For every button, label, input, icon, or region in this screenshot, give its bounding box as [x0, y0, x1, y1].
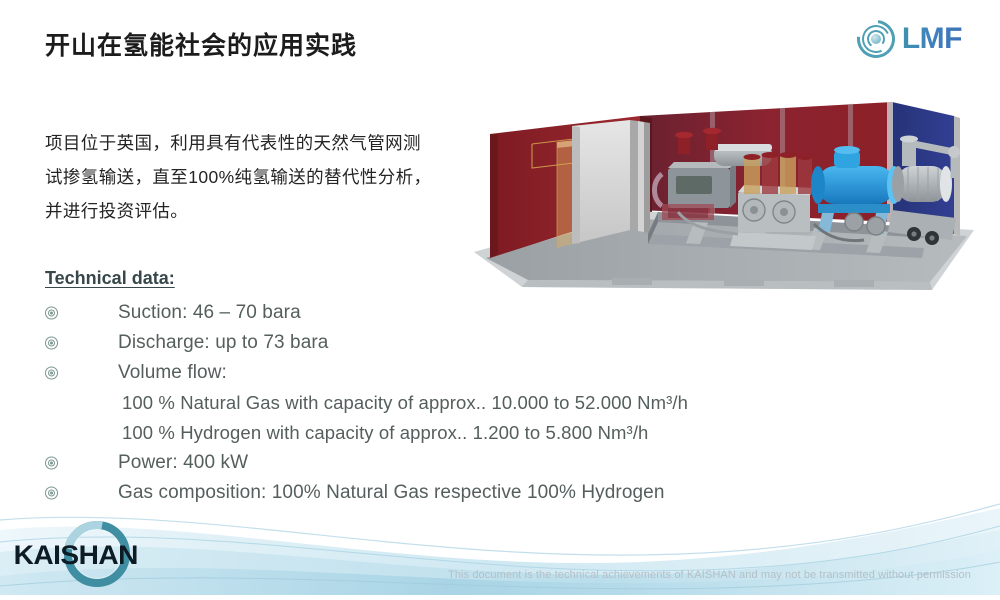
- lmf-concentric-rings-icon: [857, 20, 895, 58]
- concentric-circle-bullet-icon: [45, 337, 58, 350]
- lmf-wordmark: LMF: [902, 22, 962, 56]
- list-item: Discharge: up to 73 bara: [45, 328, 965, 358]
- intro-line-1: 项目位于英国，利用具有代表性的天然气管网测: [45, 126, 465, 160]
- technical-data-heading: Technical data:: [45, 268, 175, 289]
- technical-data-list: Suction: 46 – 70 bara Discharge: up to 7…: [45, 298, 965, 508]
- footer-confidentiality-note: This document is the technical achieveme…: [448, 569, 971, 581]
- kaishan-wordmark: KAISHAN: [14, 540, 138, 571]
- intro-paragraph: 项目位于英国，利用具有代表性的天然气管网测 试掺氢输送，直至100%纯氢输送的替…: [45, 126, 465, 228]
- containerized-compressor-3d-render: [462, 82, 987, 307]
- list-item-sub: 100 % Natural Gas with capacity of appro…: [45, 388, 965, 418]
- kaishan-logo: KAISHAN: [12, 513, 152, 593]
- list-item: Volume flow:: [45, 358, 965, 388]
- list-item: Power: 400 kW: [45, 448, 965, 478]
- list-item-label: 100 % Natural Gas with capacity of appro…: [122, 392, 688, 414]
- concentric-circle-bullet-icon: [45, 367, 58, 380]
- list-item-label: Power: 400 kW: [118, 452, 248, 474]
- concentric-circle-bullet-icon: [45, 457, 58, 470]
- list-item-label: Discharge: up to 73 bara: [118, 332, 328, 354]
- lmf-logo: LMF: [857, 20, 962, 58]
- list-item-label: Suction: 46 – 70 bara: [118, 302, 301, 324]
- concentric-circle-bullet-icon: [45, 307, 58, 320]
- intro-line-3: 并进行投资评估。: [45, 194, 465, 228]
- list-item-sub: 100 % Hydrogen with capacity of approx..…: [45, 418, 965, 448]
- intro-line-2: 试掺氢输送，直至100%纯氢输送的替代性分析，: [45, 160, 465, 194]
- list-item-label: 100 % Hydrogen with capacity of approx..…: [122, 422, 648, 444]
- page-title: 开山在氢能社会的应用实践: [45, 26, 357, 62]
- list-item-label: Volume flow:: [118, 362, 227, 384]
